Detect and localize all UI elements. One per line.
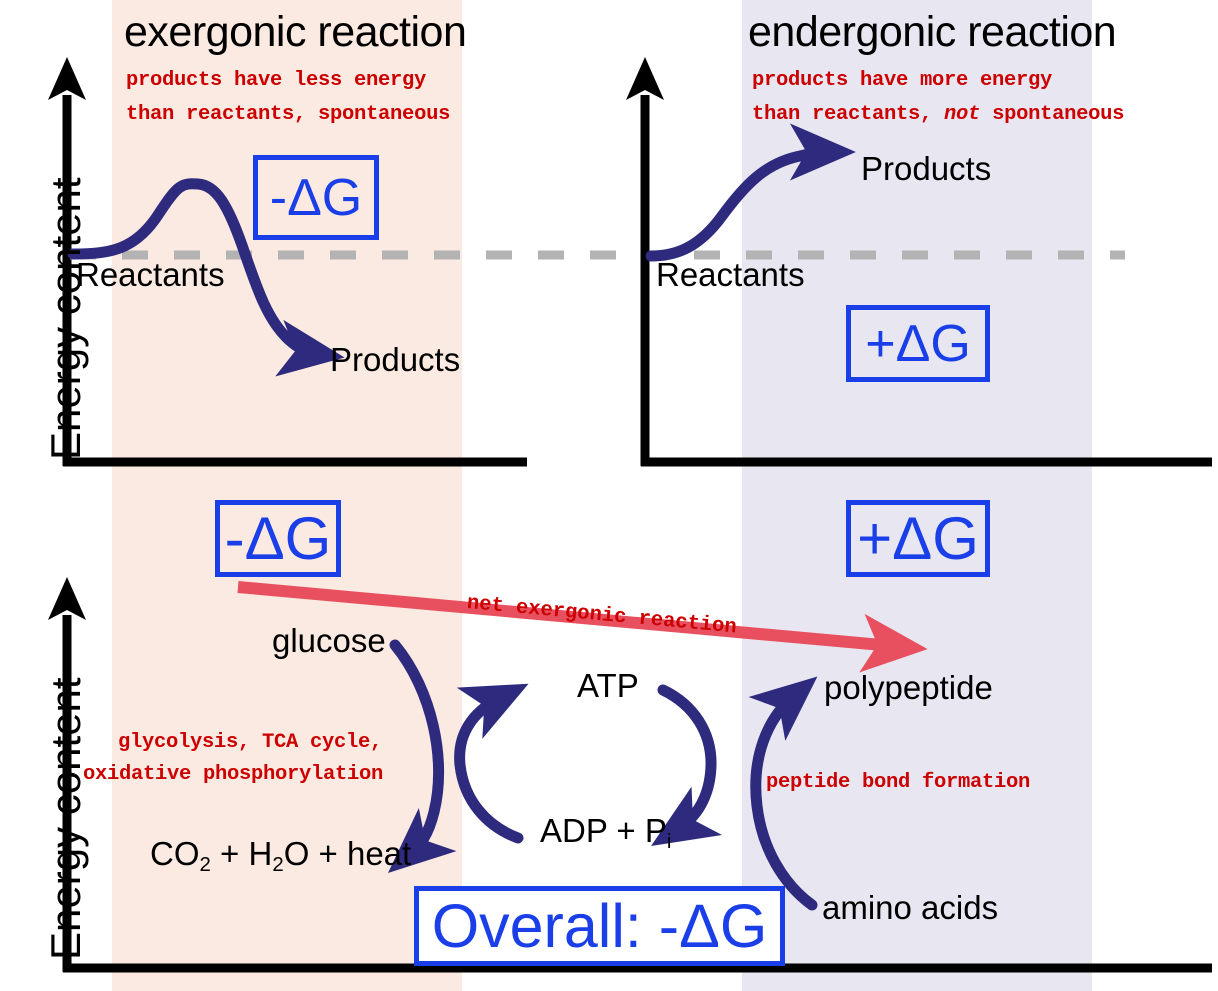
- endergonic-products-label: Products: [861, 150, 991, 188]
- coupling-left-delta-g-box: -ΔG: [215, 500, 341, 577]
- atp-hydrolysis-arrow: [663, 690, 711, 829]
- atp-synthesis-arrow: [460, 698, 518, 838]
- endergonic-annotation-line1: products have more energy: [752, 69, 1052, 92]
- energy-diagram-figure: Energy content Energy content exergonic …: [0, 0, 1218, 991]
- endergonic-annotation-prefix: than reactants,: [752, 103, 944, 126]
- catabolism-annotation-line2: oxidative phosphorylation: [83, 763, 383, 786]
- polypeptide-label: polypeptide: [824, 669, 993, 707]
- endergonic-annotation-line2: than reactants, not spontaneous: [752, 103, 1124, 126]
- y-axis-label-bottom: Energy content: [42, 677, 90, 960]
- endergonic-panel-title: endergonic reaction: [748, 8, 1116, 57]
- coupling-right-delta-g-box: +ΔG: [846, 500, 990, 577]
- glucose-label: glucose: [272, 622, 386, 660]
- endergonic-annotation-suffix: spontaneous: [980, 103, 1124, 126]
- atp-label: ATP: [577, 667, 639, 705]
- exergonic-reactants-label: Reactants: [76, 256, 225, 294]
- y-axis-label-top: Energy content: [42, 177, 90, 460]
- catabolism-arrow: [395, 645, 439, 852]
- exergonic-annotation-line1: products have less energy: [126, 69, 426, 92]
- exergonic-annotation-prefix: than reactants,: [126, 103, 318, 126]
- exergonic-panel-title: exergonic reaction: [124, 8, 466, 57]
- exergonic-annotation-suffix: spontaneous: [318, 103, 450, 126]
- endergonic-annotation-emphasis: not: [944, 103, 980, 126]
- endergonic-reactants-label: Reactants: [656, 256, 805, 294]
- anabolism-annotation: peptide bond formation: [766, 771, 1030, 794]
- amino-acids-label: amino acids: [822, 889, 998, 927]
- anabolism-arrow: [756, 697, 812, 905]
- waste-products-label: CO2 + H2O + heat: [150, 835, 411, 873]
- exergonic-delta-g-box: -ΔG: [253, 155, 379, 240]
- exergonic-annotation-line2: than reactants, spontaneous: [126, 103, 450, 126]
- endergonic-reaction-curve: [651, 152, 824, 256]
- endergonic-delta-g-box: +ΔG: [846, 305, 990, 382]
- exergonic-products-label: Products: [330, 341, 460, 379]
- adp-label: ADP + Pi: [540, 812, 671, 850]
- overall-delta-g-box: Overall: -ΔG: [414, 886, 785, 966]
- catabolism-annotation-line1: glycolysis, TCA cycle,: [118, 731, 382, 754]
